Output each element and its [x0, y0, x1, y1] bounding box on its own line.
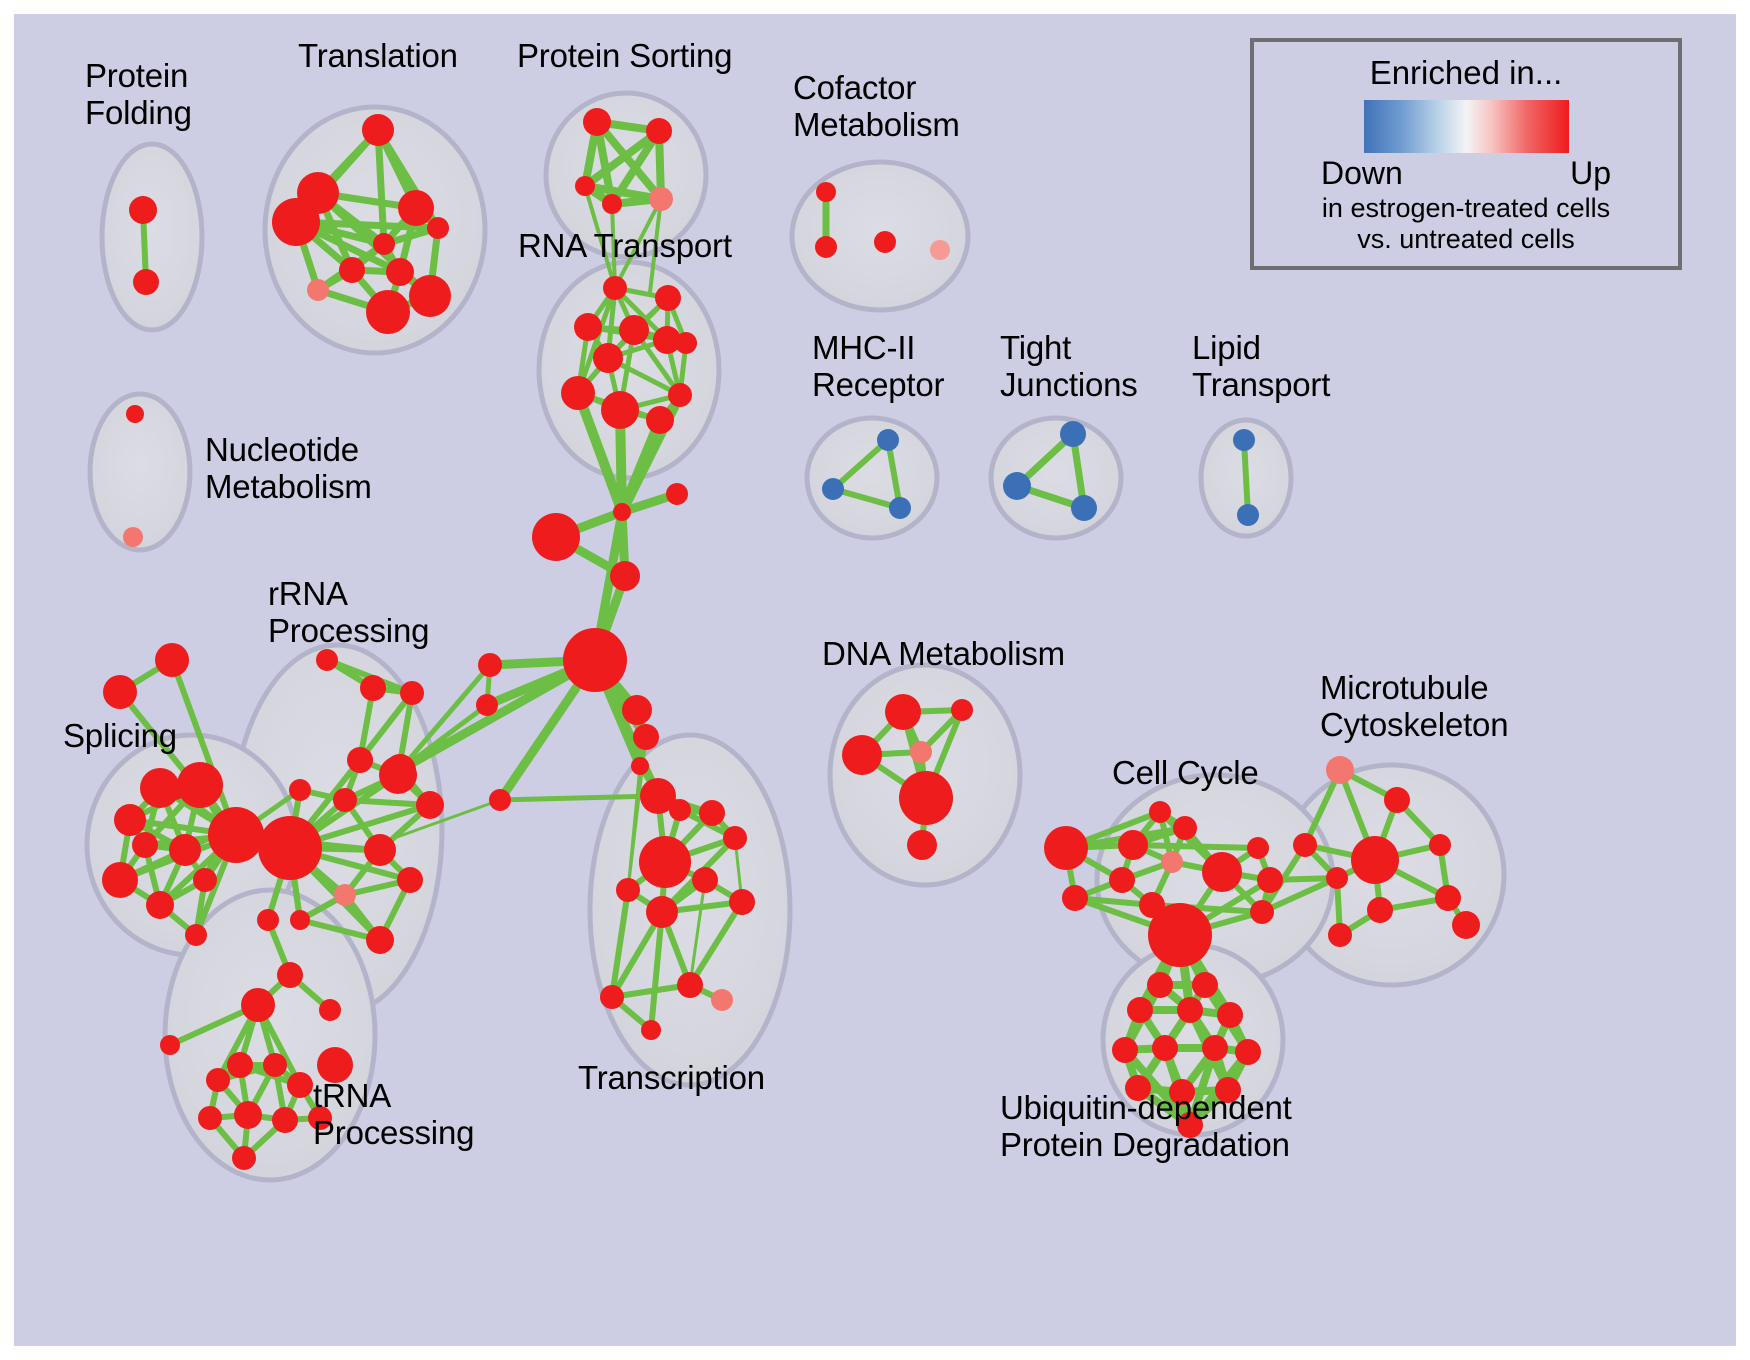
cluster-label-splicing: Splicing: [63, 718, 177, 755]
node: [613, 503, 631, 521]
node: [362, 114, 394, 146]
node: [1435, 885, 1461, 911]
legend-low-label: Down: [1321, 155, 1403, 192]
node: [1044, 826, 1088, 870]
node: [400, 681, 424, 705]
node: [631, 757, 649, 775]
node: [655, 285, 681, 311]
node: [1147, 972, 1173, 998]
cluster-label-trna-processing: tRNA Processing: [313, 1078, 474, 1152]
node: [646, 896, 678, 928]
node: [129, 196, 157, 224]
legend-endpoint-labels: Down Up: [1321, 155, 1611, 192]
node: [289, 779, 311, 801]
node: [1250, 900, 1274, 924]
cluster-label-rrna-processing: rRNA Processing: [268, 576, 429, 650]
node: [885, 694, 921, 730]
node: [633, 724, 659, 750]
node: [386, 258, 414, 286]
node: [384, 754, 416, 786]
node: [160, 1035, 180, 1055]
node: [1149, 801, 1171, 823]
node: [574, 313, 602, 341]
node: [583, 108, 611, 136]
node: [146, 891, 174, 919]
node: [1367, 897, 1393, 923]
node: [815, 236, 837, 258]
node: [1328, 923, 1352, 947]
node: [677, 972, 703, 998]
node: [639, 836, 691, 888]
node: [603, 276, 627, 300]
cluster-label-nucleotide-metabolism: Nucleotide Metabolism: [205, 432, 372, 506]
legend-title: Enriched in...: [1370, 54, 1563, 92]
node: [675, 332, 697, 354]
node: [272, 1107, 298, 1133]
node: [227, 1052, 253, 1078]
node: [316, 649, 338, 671]
node: [347, 747, 373, 773]
node: [602, 194, 622, 214]
node: [103, 675, 137, 709]
figure-canvas: Protein Folding Translation Protein Sort…: [0, 0, 1750, 1360]
node: [692, 867, 718, 893]
cluster-label-mhc-ii-receptor: MHC-II Receptor: [812, 330, 944, 404]
legend-panel: Enriched in... Down Up in estrogen-treat…: [1250, 38, 1682, 270]
node: [193, 868, 217, 892]
node: [287, 1072, 313, 1098]
node: [1351, 836, 1399, 884]
node: [907, 830, 937, 860]
node: [1003, 472, 1031, 500]
node: [409, 275, 451, 317]
node: [669, 799, 691, 821]
node: [1112, 1037, 1138, 1063]
cluster-label-microtubule-cytoskeleton: Microtubule Cytoskeleton: [1320, 670, 1508, 744]
cluster-label-cell-cycle: Cell Cycle: [1112, 755, 1259, 792]
node: [889, 497, 911, 519]
node: [1152, 1035, 1178, 1061]
node: [816, 182, 836, 202]
node: [1217, 1002, 1243, 1028]
node: [1192, 972, 1218, 998]
node: [899, 771, 953, 825]
node: [1118, 830, 1148, 860]
node: [478, 653, 502, 677]
node: [1233, 429, 1255, 451]
node: [1247, 837, 1269, 859]
cluster-label-cofactor-metabolism: Cofactor Metabolism: [793, 70, 960, 144]
cluster-label-rna-transport: RNA Transport: [518, 228, 732, 265]
node: [1062, 885, 1088, 911]
hull-protein-folding: [102, 144, 202, 330]
node: [133, 269, 159, 295]
node: [600, 985, 624, 1009]
node: [333, 788, 357, 812]
node: [532, 513, 580, 561]
node: [910, 741, 932, 763]
node: [307, 279, 329, 301]
node: [930, 240, 950, 260]
legend-high-label: Up: [1570, 155, 1611, 192]
node: [241, 988, 275, 1022]
node: [1202, 1035, 1228, 1061]
node: [232, 1146, 256, 1170]
hull-mhcii: [807, 418, 937, 538]
node: [842, 735, 882, 775]
legend-subtitle: in estrogen-treated cells vs. untreated …: [1322, 193, 1610, 255]
node: [397, 867, 423, 893]
node: [646, 118, 672, 144]
node: [1235, 1039, 1261, 1065]
node: [1429, 834, 1451, 856]
node: [1148, 903, 1212, 967]
node: [668, 383, 692, 407]
node: [319, 999, 341, 1021]
node: [822, 478, 844, 500]
node: [877, 429, 899, 451]
node: [641, 1020, 661, 1040]
node: [699, 800, 725, 826]
node: [1326, 756, 1354, 784]
node: [257, 909, 279, 931]
node: [208, 807, 264, 863]
node: [1202, 852, 1242, 892]
node: [729, 889, 755, 915]
node: [601, 391, 639, 429]
node: [102, 862, 138, 898]
node: [427, 217, 449, 239]
node: [1173, 816, 1197, 840]
node: [1237, 504, 1259, 526]
node: [619, 315, 649, 345]
node: [360, 675, 386, 701]
node: [364, 834, 396, 866]
node: [649, 187, 673, 211]
node: [1452, 911, 1480, 939]
cluster-label-transcription: Transcription: [578, 1060, 765, 1097]
node: [258, 816, 322, 880]
cluster-label-dna-metabolism: DNA Metabolism: [822, 636, 1065, 673]
node: [126, 405, 144, 423]
cluster-label-protein-folding: Protein Folding: [85, 58, 192, 132]
node: [951, 699, 973, 721]
node: [575, 176, 595, 196]
node: [277, 962, 303, 988]
node: [366, 290, 410, 334]
node: [646, 406, 674, 434]
node: [1127, 997, 1153, 1023]
node: [398, 190, 434, 226]
cluster-label-translation: Translation: [298, 38, 458, 75]
node: [616, 878, 640, 902]
node: [593, 343, 623, 373]
node: [185, 924, 207, 946]
node: [1384, 787, 1410, 813]
node: [723, 826, 747, 850]
cluster-label-lipid-transport: Lipid Transport: [1192, 330, 1330, 404]
node: [272, 198, 320, 246]
node: [1293, 833, 1317, 857]
node: [290, 910, 310, 930]
node: [1109, 867, 1135, 893]
cluster-label-ubiquitin-degradation: Ubiquitin-dependent Protein Degradation: [1000, 1090, 1292, 1164]
node: [563, 628, 627, 692]
node: [373, 233, 395, 255]
node: [1177, 997, 1203, 1023]
node: [1161, 851, 1183, 873]
node: [366, 926, 394, 954]
node: [234, 1101, 262, 1129]
node: [263, 1053, 287, 1077]
node: [489, 789, 511, 811]
node: [339, 257, 365, 283]
node: [711, 989, 733, 1011]
node: [114, 804, 146, 836]
node: [416, 791, 444, 819]
node: [123, 527, 143, 547]
node: [476, 694, 498, 716]
node: [1071, 495, 1097, 521]
node: [169, 834, 201, 866]
node: [666, 483, 688, 505]
node: [177, 762, 223, 808]
node: [1257, 867, 1283, 893]
node: [1326, 867, 1348, 889]
cluster-label-tight-junctions: Tight Junctions: [1000, 330, 1138, 404]
node: [140, 768, 180, 808]
node: [206, 1068, 230, 1092]
node: [132, 832, 158, 858]
node: [1060, 421, 1086, 447]
node: [155, 643, 189, 677]
node: [622, 695, 652, 725]
node: [874, 231, 896, 253]
cluster-label-protein-sorting: Protein Sorting: [517, 38, 732, 75]
node: [610, 561, 640, 591]
node: [198, 1106, 222, 1130]
legend-color-gradient-bar: [1364, 100, 1569, 153]
node: [561, 376, 595, 410]
node: [334, 884, 356, 906]
